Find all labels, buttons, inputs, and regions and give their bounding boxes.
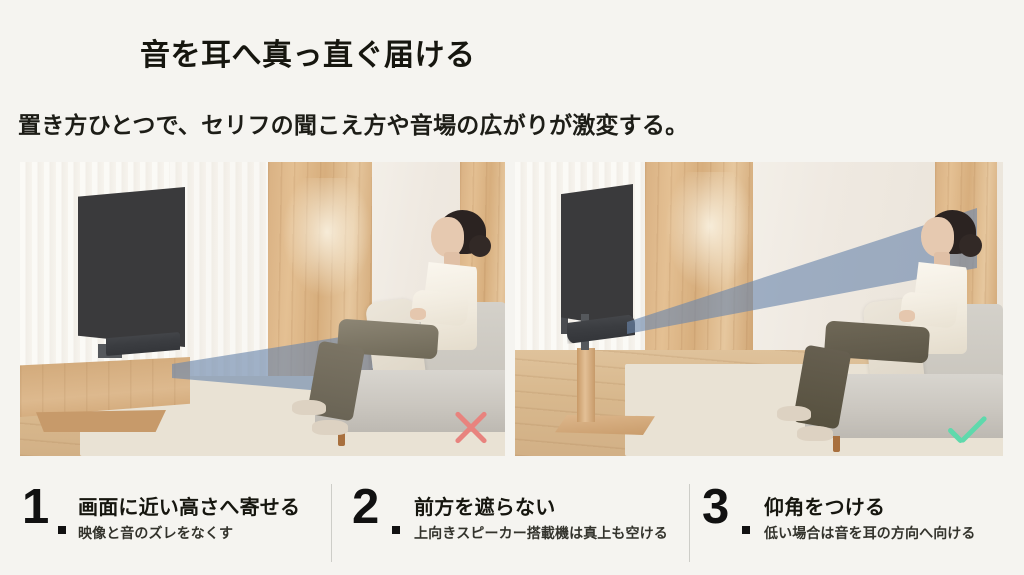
tip-number-2: 2 [352,485,377,530]
tip-item-1: 1 画面に近い高さへ寄せる 映像と音のズレをなくす [22,478,322,568]
person-slipper-back [312,420,348,435]
tip-divider-2 [689,484,690,562]
tip-divider-1 [331,484,332,562]
tip-number-3: 3 [702,485,727,530]
tip-number-1: 1 [22,485,47,530]
page-title: 音を耳へ真っ直ぐ届ける [140,30,476,74]
tv-screen [78,187,185,347]
tip-number-dot-3 [742,526,750,534]
tv-stand-pole [577,348,595,422]
tip-number-dot-2 [392,526,400,534]
tip-subtitle-1: 映像と音のズレをなくす [78,523,233,543]
verdict-cross-icon [448,405,494,451]
person-head-2 [921,217,954,257]
person-hair-bun [469,235,491,257]
tip-title-3: 仰角をつける [764,491,885,520]
person-hand-2 [899,310,915,322]
sofa-leg-2 [833,436,840,452]
tv-screen-2 [561,184,633,329]
room-scene-low [20,162,505,456]
person-slipper-front-2 [777,406,811,421]
room-scene-raised [515,162,1003,456]
person-hand [410,308,426,320]
tip-number-dot-1 [58,526,66,534]
tip-item-3: 3 仰角をつける 低い場合は音を耳の方向へ向ける [702,478,1012,568]
person-hair-bun-2 [959,234,982,257]
photo-panel-raised-placement [515,162,1003,456]
page-subtitle: 置き方ひとつで、セリフの聞こえ方や音場の広がりが激変する。 [18,106,688,140]
tips-row: 1 画面に近い高さへ寄せる 映像と音のズレをなくす 2 前方を遮らない 上向きス… [0,478,1024,575]
tip-subtitle-3: 低い場合は音を耳の方向へ向ける [764,523,976,543]
person-head [431,217,464,257]
verdict-check-icon [943,407,989,453]
photo-panel-low-placement [20,162,505,456]
tip-title-1: 画面に近い高さへ寄せる [78,491,300,520]
tip-title-2: 前方を遮らない [414,491,555,520]
tv-stand-base-plate [555,415,655,435]
tip-item-2: 2 前方を遮らない 上向きスピーカー搭載機は真上も空ける [352,478,672,568]
tv-cabinet-base [36,410,166,432]
person-slipper-back-2 [797,426,833,441]
person-slipper-front [292,400,326,415]
tip-subtitle-2: 上向きスピーカー搭載機は真上も空ける [414,523,668,543]
